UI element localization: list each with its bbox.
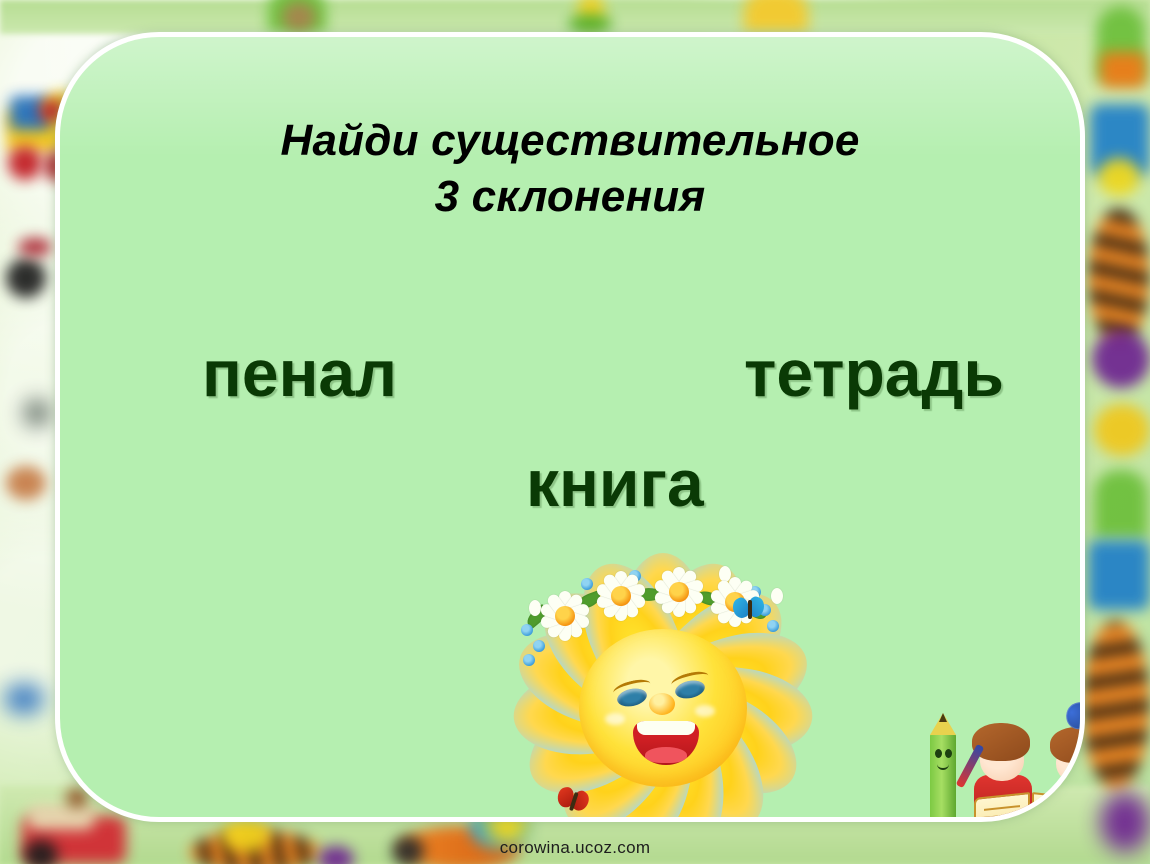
toy-blob-yellow-arch bbox=[744, 0, 808, 32]
toy-blob-purple-right bbox=[1092, 330, 1150, 388]
toy-blob-green-stem bbox=[568, 14, 612, 34]
content-panel: Найди существительное 3 склонения пенал … bbox=[55, 32, 1085, 822]
toy-plush-tiger-right-low bbox=[1082, 620, 1150, 790]
toy-blob-brown bbox=[282, 2, 316, 32]
toy-bike-seat bbox=[18, 238, 52, 256]
hair-bow-icon bbox=[1066, 703, 1085, 733]
toy-bike-wheel bbox=[6, 258, 46, 298]
toy-walker-green-right bbox=[1094, 470, 1148, 538]
answer-option-kniga[interactable]: книга bbox=[526, 450, 704, 516]
sun-cheek-highlight-right bbox=[695, 705, 715, 717]
two-children-reading-book-icon bbox=[916, 701, 1085, 822]
answer-option-tetrad[interactable]: тетрадь bbox=[744, 340, 1004, 406]
toy-motorcycle-seat bbox=[28, 804, 94, 830]
sun-teeth bbox=[637, 721, 695, 735]
watermark-text: corowina.ucoz.com bbox=[0, 838, 1150, 858]
toy-walker-basket bbox=[1100, 52, 1146, 88]
toy-blob-blue-left bbox=[4, 684, 44, 714]
toy-ride-on-blue-right bbox=[1088, 540, 1150, 610]
daisy-icon bbox=[539, 590, 591, 642]
toy-plush-tiger-right bbox=[1088, 208, 1150, 346]
page-title: Найди существительное 3 склонения bbox=[60, 113, 1080, 226]
title-line-2: 3 склонения bbox=[60, 169, 1080, 225]
daisy-icon bbox=[653, 566, 705, 618]
toy-giraffe-right bbox=[1094, 404, 1150, 456]
title-line-1: Найди существительное bbox=[280, 116, 859, 165]
toy-wooden-disc bbox=[6, 466, 46, 500]
slide-canvas: Найди существительное 3 склонения пенал … bbox=[0, 0, 1150, 864]
sun-mouth bbox=[633, 721, 699, 765]
sun-tongue bbox=[645, 747, 687, 763]
sun-nose bbox=[649, 693, 675, 715]
toy-blob-dark-left bbox=[24, 400, 50, 426]
blue-butterfly-icon bbox=[733, 596, 767, 622]
toy-ride-on-wheel bbox=[1098, 158, 1140, 196]
toy-truck-wheel-a bbox=[8, 146, 42, 180]
daisy-icon bbox=[595, 570, 647, 622]
answer-option-penal[interactable]: пенал bbox=[202, 340, 397, 406]
smiling-sun-flower-icon bbox=[503, 552, 823, 822]
sun-cheek-highlight-left bbox=[605, 713, 625, 725]
green-pencil-character-icon bbox=[930, 733, 956, 822]
